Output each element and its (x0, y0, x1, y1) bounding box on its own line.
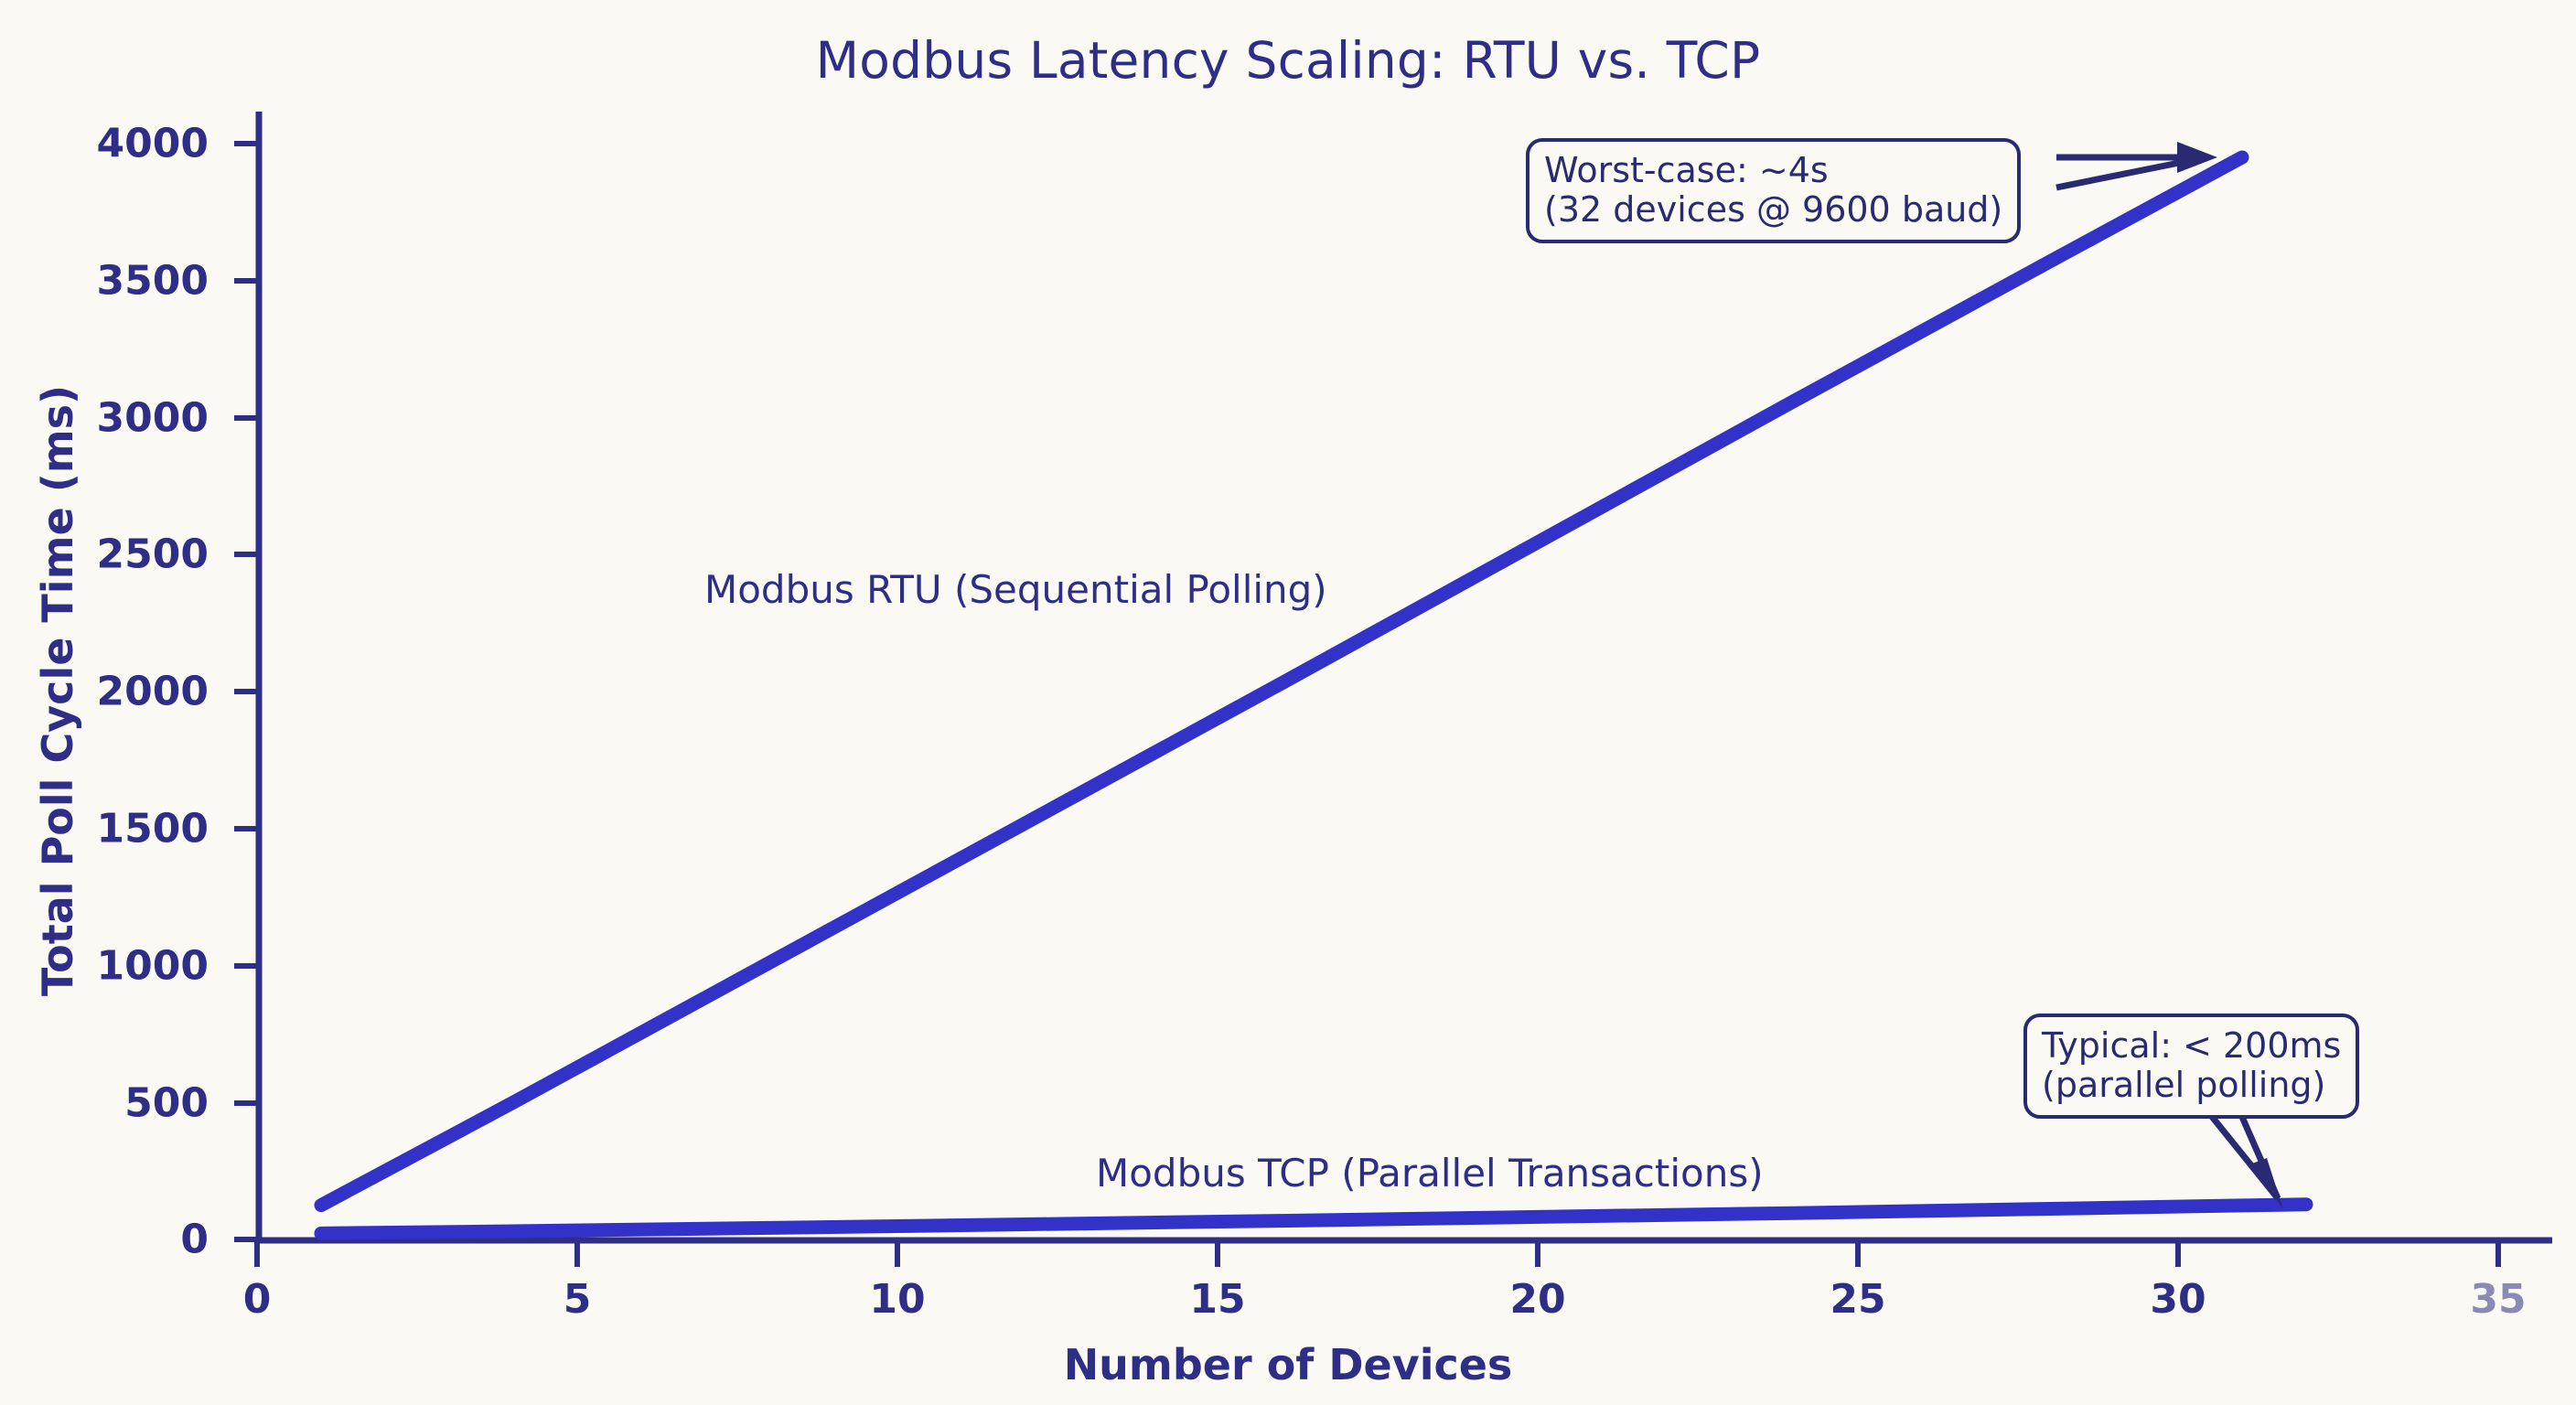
x-tick-label-30: 30 (2150, 1276, 2206, 1323)
annotation-worst-case: Worst-case: ~4s (32 devices @ 9600 baud) (1526, 138, 2021, 243)
annotation-typical: Typical: < 200ms (parallel polling) (2023, 1014, 2359, 1119)
annotation-worst-case-line2: (32 devices @ 9600 baud) (1544, 190, 2002, 230)
series-line-modbus-rtu (321, 157, 2242, 1206)
x-tick-label-35: 35 (2470, 1276, 2526, 1323)
x-tick-label-5: 5 (563, 1276, 592, 1323)
y-tick-label-4000: 4000 (46, 121, 209, 167)
y-tick-label-3000: 3000 (46, 395, 209, 442)
x-tick-label-0: 0 (243, 1276, 272, 1323)
x-tick-label-15: 15 (1189, 1276, 1245, 1323)
annotation-typical-line2: (parallel polling) (2042, 1066, 2341, 1105)
x-axis-title: Number of Devices (0, 1340, 2576, 1389)
y-tick-label-0: 0 (46, 1217, 209, 1263)
x-axis-ticks (257, 1240, 2498, 1267)
x-tick-label-10: 10 (869, 1276, 925, 1323)
x-tick-label-20: 20 (1509, 1276, 1565, 1323)
page-title: Modbus Latency Scaling: RTU vs. TCP (0, 31, 2576, 90)
y-axis-ticks (234, 144, 259, 1239)
x-tick-label-25: 25 (1830, 1276, 1885, 1323)
annotation-worst-case-line1: Worst-case: ~4s (1544, 150, 1829, 190)
series-label-modbus-tcp: Modbus TCP (Parallel Transactions) (1096, 1151, 1764, 1196)
y-tick-label-2500: 2500 (46, 531, 209, 578)
series-label-modbus-rtu: Modbus RTU (Sequential Polling) (704, 567, 1327, 612)
y-tick-label-1000: 1000 (46, 943, 209, 990)
y-tick-label-3500: 3500 (46, 258, 209, 305)
y-tick-label-2000: 2000 (46, 669, 209, 715)
y-tick-label-500: 500 (46, 1080, 209, 1127)
y-tick-label-1500: 1500 (46, 806, 209, 853)
series-line-modbus-tcp (321, 1205, 2306, 1234)
chart-canvas: Modbus Latency Scaling: RTU vs. TCP Tota… (0, 0, 2576, 1405)
annotation-typical-line1: Typical: < 200ms (2042, 1025, 2341, 1066)
